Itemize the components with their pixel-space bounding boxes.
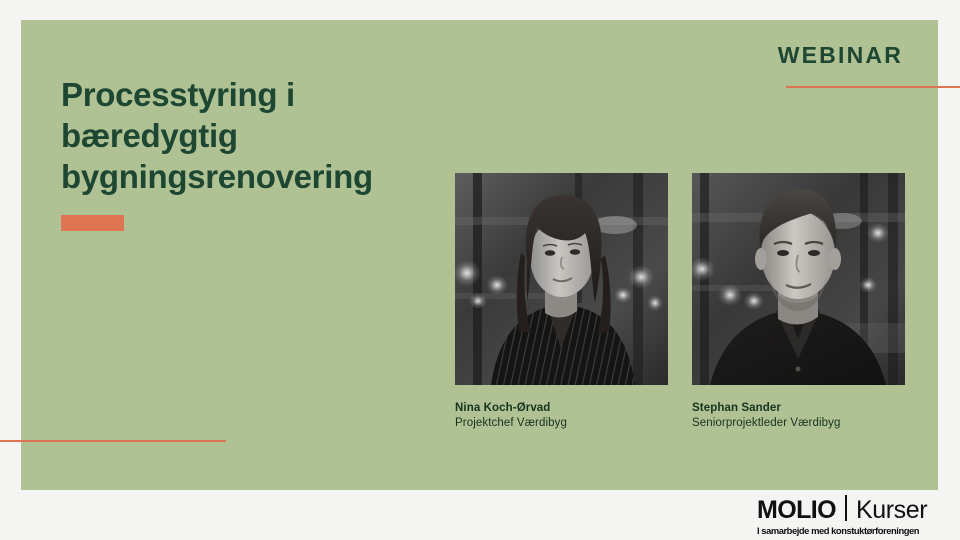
left-accent-rule xyxy=(0,440,226,442)
webinar-underline-rule xyxy=(786,86,960,88)
speaker-photo-1 xyxy=(455,173,668,385)
speaker-role-1: Projektchef Værdibyg xyxy=(455,416,668,431)
title-line-2: bæredygtig xyxy=(61,115,461,156)
title-line-3: bygningsrenovering xyxy=(61,156,461,197)
presentation-slide: WEBINAR Processtyring i bæredygtig bygni… xyxy=(0,0,960,540)
speaker-role-2: Seniorprojektleder Værdibyg xyxy=(692,416,905,431)
title-accent-bar xyxy=(61,215,124,231)
logo-wordmark-row: MOLIO Kurser xyxy=(757,492,947,523)
speaker-name-2: Stephan Sander xyxy=(692,401,905,416)
speaker-name-1: Nina Koch-Ørvad xyxy=(455,401,668,416)
speaker-card-1: Nina Koch-Ørvad Projektchef Værdibyg xyxy=(455,173,668,431)
title-line-1: Processtyring i xyxy=(61,74,461,115)
page-title: Processtyring i bæredygtig bygningsrenov… xyxy=(61,74,461,197)
logo-subbrand-text: Kurser xyxy=(856,498,927,523)
logo-tagline: I samarbejde med konstuktørforeningen xyxy=(757,525,947,536)
webinar-eyebrow-label: WEBINAR xyxy=(778,44,903,67)
molio-kurser-logo: MOLIO Kurser I samarbejde med konstuktør… xyxy=(757,492,947,536)
speaker-photo-2 xyxy=(692,173,905,385)
speaker-card-2: Stephan Sander Seniorprojektleder Værdib… xyxy=(692,173,905,431)
logo-divider xyxy=(845,495,847,521)
logo-brand-text: MOLIO xyxy=(757,498,836,523)
